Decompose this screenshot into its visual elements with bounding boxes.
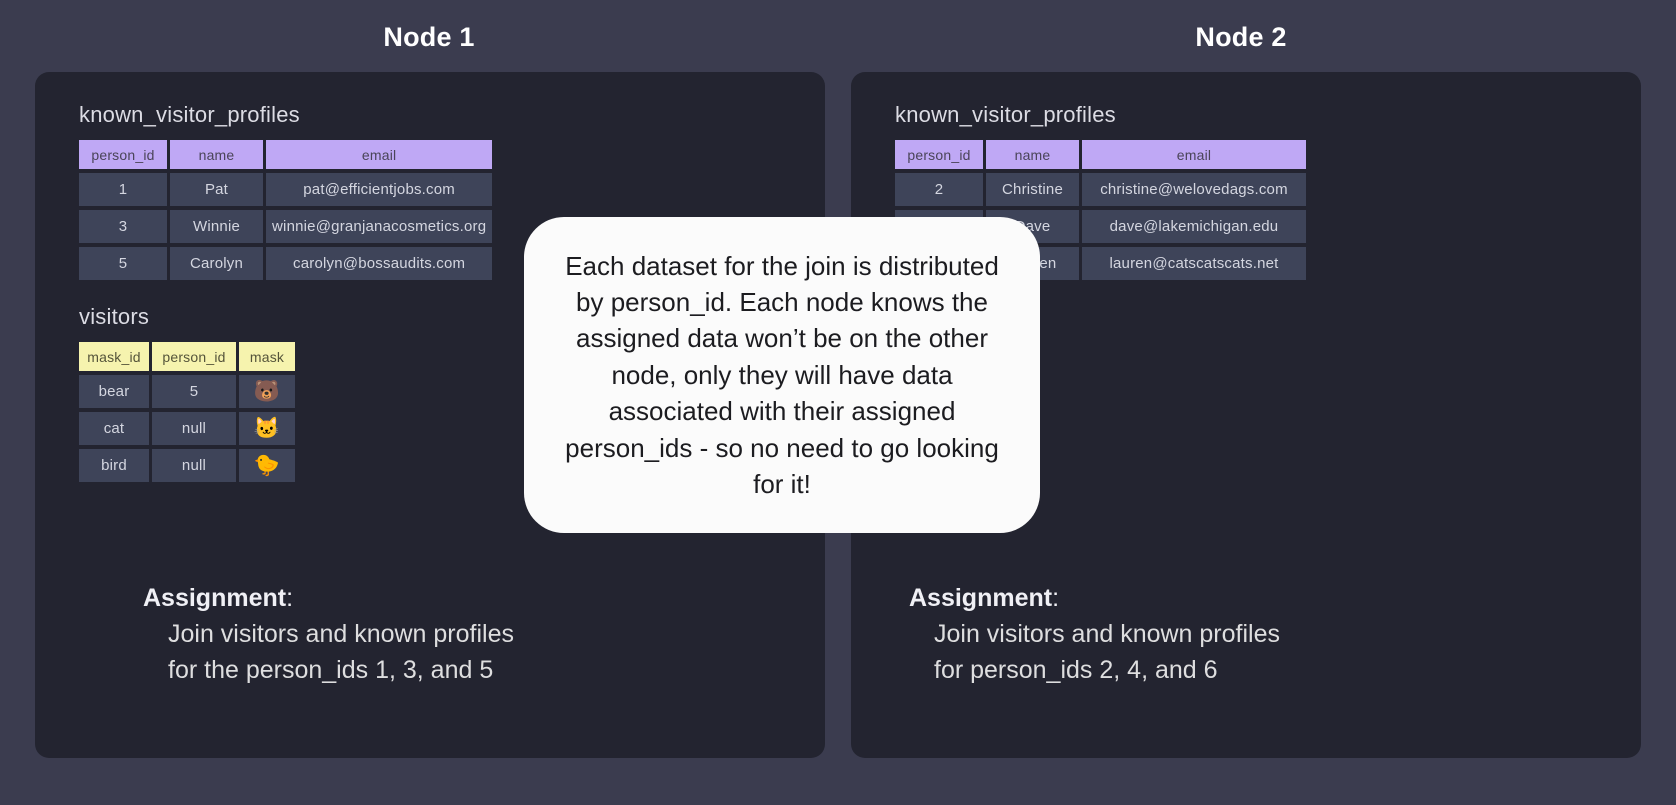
cell-name: Winnie <box>170 210 263 243</box>
node-2-profiles-caption: known_visitor_profiles <box>895 102 1641 128</box>
column-header-name: name <box>986 140 1079 169</box>
node-2-title: Node 2 <box>1141 22 1341 53</box>
cell-person-id: 3 <box>79 210 167 243</box>
cell-mask-id: bear <box>79 375 149 408</box>
assignment-colon: : <box>1052 584 1059 612</box>
cell-email: winnie@granjanacosmetics.org <box>266 210 492 243</box>
cell-person-id: 5 <box>152 375 236 408</box>
assignment-heading: Assignment: <box>909 581 1280 617</box>
bird-icon: 🐤 <box>239 449 295 482</box>
table-row: 3 Winnie winnie@granjanacosmetics.org <box>79 210 492 243</box>
cell-mask-id: bird <box>79 449 149 482</box>
cell-email: pat@efficientjobs.com <box>266 173 492 206</box>
cell-email: christine@welovedags.com <box>1082 173 1306 206</box>
node-1-profiles-table: person_id name email 1 Pat pat@efficient… <box>76 136 495 284</box>
table-row: 1 Pat pat@efficientjobs.com <box>79 173 492 206</box>
cell-person-id: 2 <box>895 173 983 206</box>
table-row: 2 Christine christine@welovedags.com <box>895 173 1306 206</box>
column-header-name: name <box>170 140 263 169</box>
assignment-label: Assignment <box>143 584 286 612</box>
column-header-person-id: person_id <box>79 140 167 169</box>
explanation-text: Each dataset for the join is distributed… <box>558 248 1006 503</box>
table-row: bird null 🐤 <box>79 449 295 482</box>
cell-name: Christine <box>986 173 1079 206</box>
column-header-email: email <box>266 140 492 169</box>
node-1-visitors-table: mask_id person_id mask bear 5 🐻 cat <box>76 338 298 486</box>
bear-icon: 🐻 <box>239 375 295 408</box>
assignment-label: Assignment <box>909 584 1052 612</box>
assignment-line-1: Join visitors and known profiles <box>909 616 1280 652</box>
cell-mask-id: cat <box>79 412 149 445</box>
column-header-mask-id: mask_id <box>79 342 149 371</box>
cell-email: dave@lakemichigan.edu <box>1082 210 1306 243</box>
cell-person-id: null <box>152 449 236 482</box>
cell-email: lauren@catscatscats.net <box>1082 247 1306 280</box>
column-header-email: email <box>1082 140 1306 169</box>
column-header-person-id: person_id <box>152 342 236 371</box>
table-header-row: person_id name email <box>79 140 492 169</box>
cell-email: carolyn@bossaudits.com <box>266 247 492 280</box>
table-header-row: person_id name email <box>895 140 1306 169</box>
cat-icon: 🐱 <box>239 412 295 445</box>
node-1-profiles-caption: known_visitor_profiles <box>79 102 825 128</box>
column-header-mask: mask <box>239 342 295 371</box>
cell-name: Carolyn <box>170 247 263 280</box>
table-row: cat null 🐱 <box>79 412 295 445</box>
cell-person-id: 1 <box>79 173 167 206</box>
cell-person-id: null <box>152 412 236 445</box>
node-1-assignment: Assignment: Join visitors and known prof… <box>143 581 514 689</box>
node-2-assignment: Assignment: Join visitors and known prof… <box>909 581 1280 689</box>
cell-person-id: 5 <box>79 247 167 280</box>
explanation-callout: Each dataset for the join is distributed… <box>524 217 1040 533</box>
table-row: bear 5 🐻 <box>79 375 295 408</box>
assignment-line-2: for person_ids 2, 4, and 6 <box>909 652 1280 688</box>
table-header-row: mask_id person_id mask <box>79 342 295 371</box>
assignment-line-2: for the person_ids 1, 3, and 5 <box>143 652 514 688</box>
cell-name: Pat <box>170 173 263 206</box>
assignment-line-1: Join visitors and known profiles <box>143 616 514 652</box>
diagram-stage: Node 1 Node 2 known_visitor_profiles per… <box>0 0 1676 805</box>
table-row: 5 Carolyn carolyn@bossaudits.com <box>79 247 492 280</box>
column-header-person-id: person_id <box>895 140 983 169</box>
node-1-title: Node 1 <box>329 22 529 53</box>
assignment-colon: : <box>286 584 293 612</box>
assignment-heading: Assignment: <box>143 581 514 617</box>
